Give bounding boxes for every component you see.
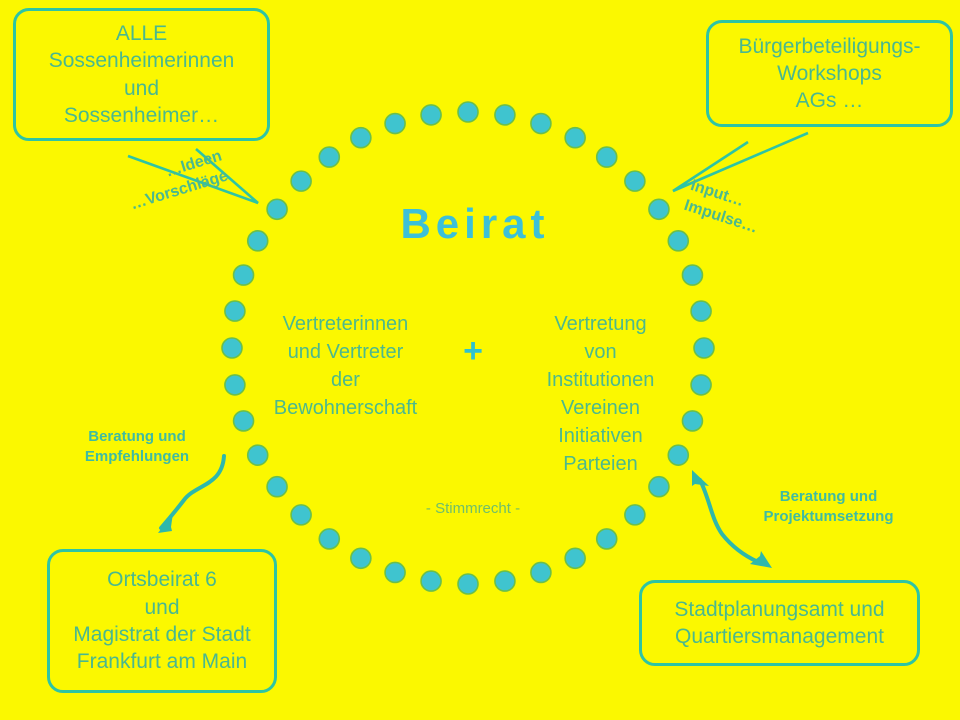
circle-dot: [565, 548, 585, 568]
circle-dot: [691, 301, 711, 321]
circle-dot: [234, 265, 254, 285]
bubble-workshops: Bürgerbeteiligungs- Workshops AGs …: [706, 20, 953, 127]
circle-dot: [597, 529, 617, 549]
center-columns: Vertreterinnen und Vertreter der Bewohne…: [258, 310, 688, 478]
bubble-citizens-text: ALLE Sossenheimerinnen und Sossenheimer…: [16, 20, 267, 129]
label-ideen-vorschlaege: …Ideen …Vorschläge: [122, 146, 231, 215]
center-footnote: - Stimmrecht -: [358, 500, 588, 517]
label-beratung-und-empfehlungen: Beratung und Empfehlungen: [66, 427, 208, 468]
center-right-column: Vertretung von Institutionen Vereinen In…: [513, 310, 688, 478]
circle-dot: [234, 411, 254, 431]
circle-dot: [291, 171, 311, 191]
circle-dot: [531, 114, 551, 134]
circle-dot: [225, 301, 245, 321]
circle-dot: [625, 171, 645, 191]
circle-dot: [222, 338, 242, 358]
circle-dot: [495, 105, 515, 125]
circle-dot: [458, 574, 478, 594]
circle-dot: [694, 338, 714, 358]
bubble-citizens: ALLE Sossenheimerinnen und Sossenheimer…: [13, 8, 270, 141]
circle-dot: [267, 199, 287, 219]
bubble-workshops-text: Bürgerbeteiligungs- Workshops AGs …: [709, 33, 950, 115]
circle-dot: [682, 265, 702, 285]
circle-dot: [531, 562, 551, 582]
circle-dot: [495, 571, 515, 591]
center-left-column: Vertreterinnen und Vertreter der Bewohne…: [258, 310, 433, 422]
bubble-stadtplanungsamt: Stadtplanungsamt und Quartiersmanagement: [639, 580, 920, 666]
circle-dot: [668, 231, 688, 251]
arrowhead-beratung-empfehlungen: [158, 513, 173, 533]
circle-dot: [319, 529, 339, 549]
circle-dot: [597, 147, 617, 167]
diagram-canvas: ALLE Sossenheimerinnen und Sossenheimer……: [0, 0, 960, 720]
bubble-stadtplanungsamt-text: Stadtplanungsamt und Quartiersmanagement: [642, 596, 917, 651]
circle-dot: [319, 147, 339, 167]
arrowhead-projektumsetzung-up: [692, 470, 709, 486]
circle-dot: [385, 562, 405, 582]
circle-dot: [351, 548, 371, 568]
circle-dot: [691, 375, 711, 395]
label-beratung-und-projektumsetzung: Beratung und Projektumsetzung: [746, 487, 911, 528]
circle-dot: [649, 477, 669, 497]
circle-dot: [225, 375, 245, 395]
circle-dot: [351, 128, 371, 148]
circle-dot: [385, 114, 405, 134]
arrowhead-projektumsetzung-down: [750, 551, 772, 568]
circle-dot: [291, 505, 311, 525]
circle-dot: [421, 105, 441, 125]
bubble-ortsbeirat-text: Ortsbeirat 6 und Magistrat der Stadt Fra…: [50, 566, 274, 675]
circle-dot: [649, 199, 669, 219]
plus-icon: +: [450, 310, 496, 368]
bubble-ortsbeirat: Ortsbeirat 6 und Magistrat der Stadt Fra…: [47, 549, 277, 693]
circle-dot: [458, 102, 478, 122]
circle-dot: [267, 477, 287, 497]
label-input-impulse: Input… Impulse…: [681, 176, 767, 239]
circle-dot: [565, 128, 585, 148]
circle-dot: [625, 505, 645, 525]
center-title: Beirat: [330, 200, 620, 248]
circle-dot: [421, 571, 441, 591]
circle-dot: [248, 231, 268, 251]
